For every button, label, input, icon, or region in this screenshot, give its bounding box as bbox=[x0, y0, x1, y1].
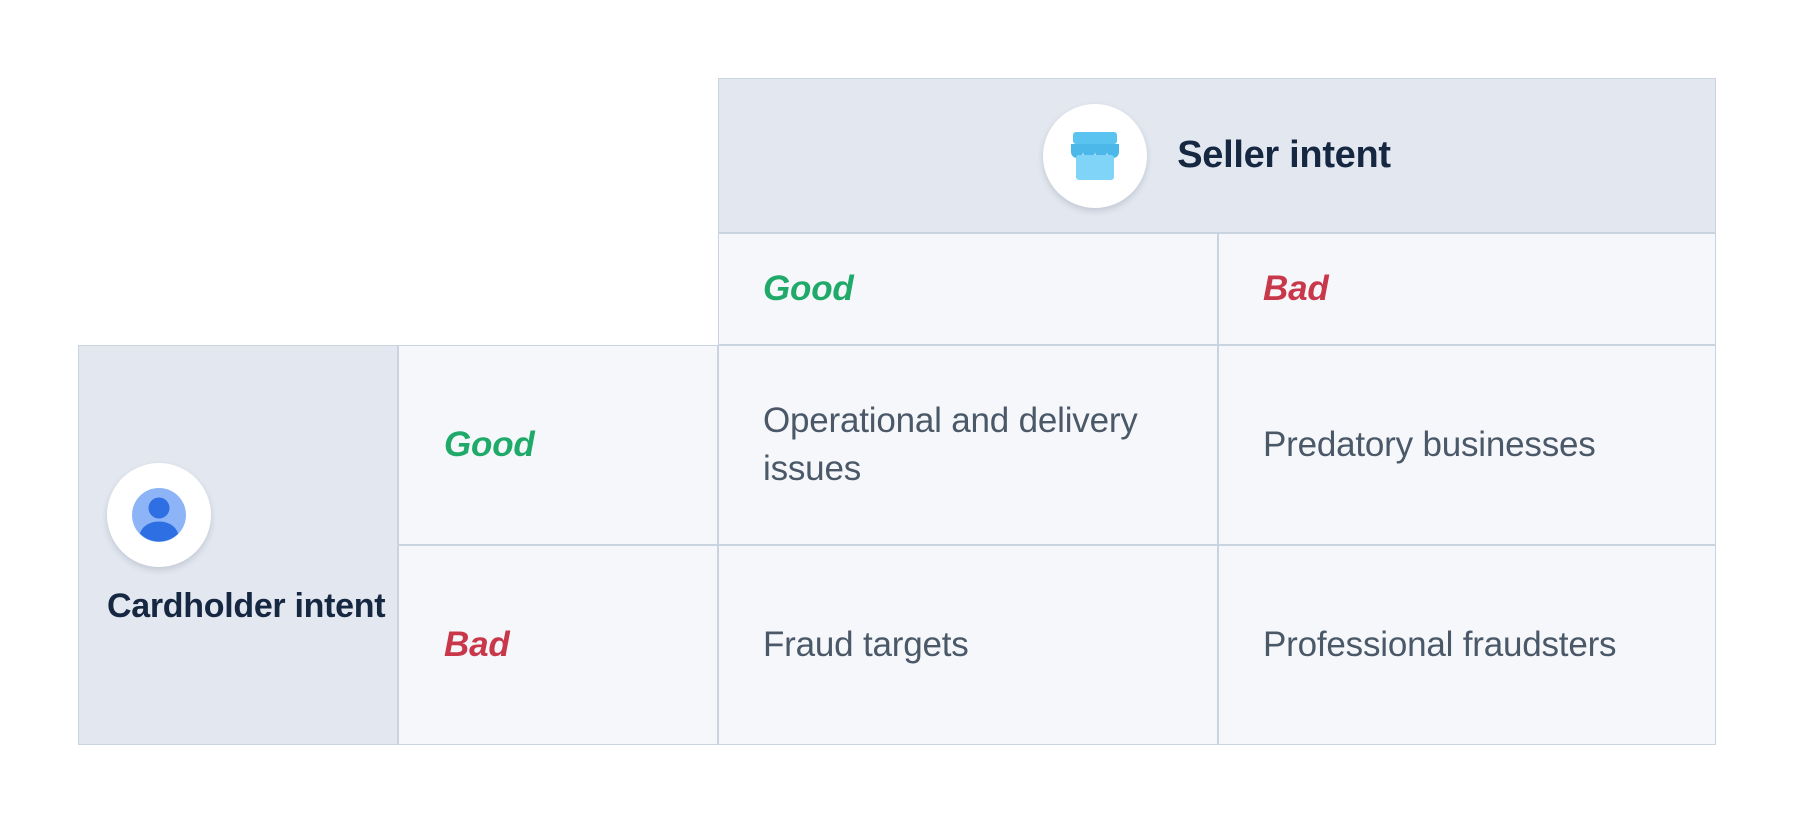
person-avatar-icon bbox=[107, 463, 211, 567]
storefront-icon bbox=[1043, 104, 1147, 208]
seller-intent-header: Seller intent bbox=[718, 78, 1716, 233]
column-header-good: Good bbox=[718, 233, 1218, 345]
cell-bad-good: Fraud targets bbox=[718, 545, 1218, 745]
row-header-good-label: Good bbox=[444, 425, 535, 465]
row-header-bad-label: Bad bbox=[444, 625, 510, 665]
row-header-bad: Bad bbox=[398, 545, 718, 745]
row-header-good: Good bbox=[398, 345, 718, 545]
cardholder-intent-title: Cardholder intent bbox=[107, 585, 385, 628]
seller-intent-title: Seller intent bbox=[1177, 134, 1391, 177]
cell-good-bad-text: Predatory businesses bbox=[1263, 421, 1596, 469]
intent-matrix: Seller intent Good Bad Cardholder intent… bbox=[0, 0, 1800, 830]
column-header-good-label: Good bbox=[763, 269, 854, 309]
cell-bad-bad: Professional fraudsters bbox=[1218, 545, 1716, 745]
matrix-corner-spacer bbox=[78, 78, 718, 345]
cell-bad-good-text: Fraud targets bbox=[763, 621, 969, 669]
column-header-bad-label: Bad bbox=[1263, 269, 1329, 309]
column-header-bad: Bad bbox=[1218, 233, 1716, 345]
cell-good-bad: Predatory businesses bbox=[1218, 345, 1716, 545]
cell-bad-bad-text: Professional fraudsters bbox=[1263, 621, 1616, 669]
cell-good-good-text: Operational and delivery issues bbox=[763, 397, 1197, 494]
cardholder-intent-header: Cardholder intent bbox=[78, 345, 398, 745]
cell-good-good: Operational and delivery issues bbox=[718, 345, 1218, 545]
